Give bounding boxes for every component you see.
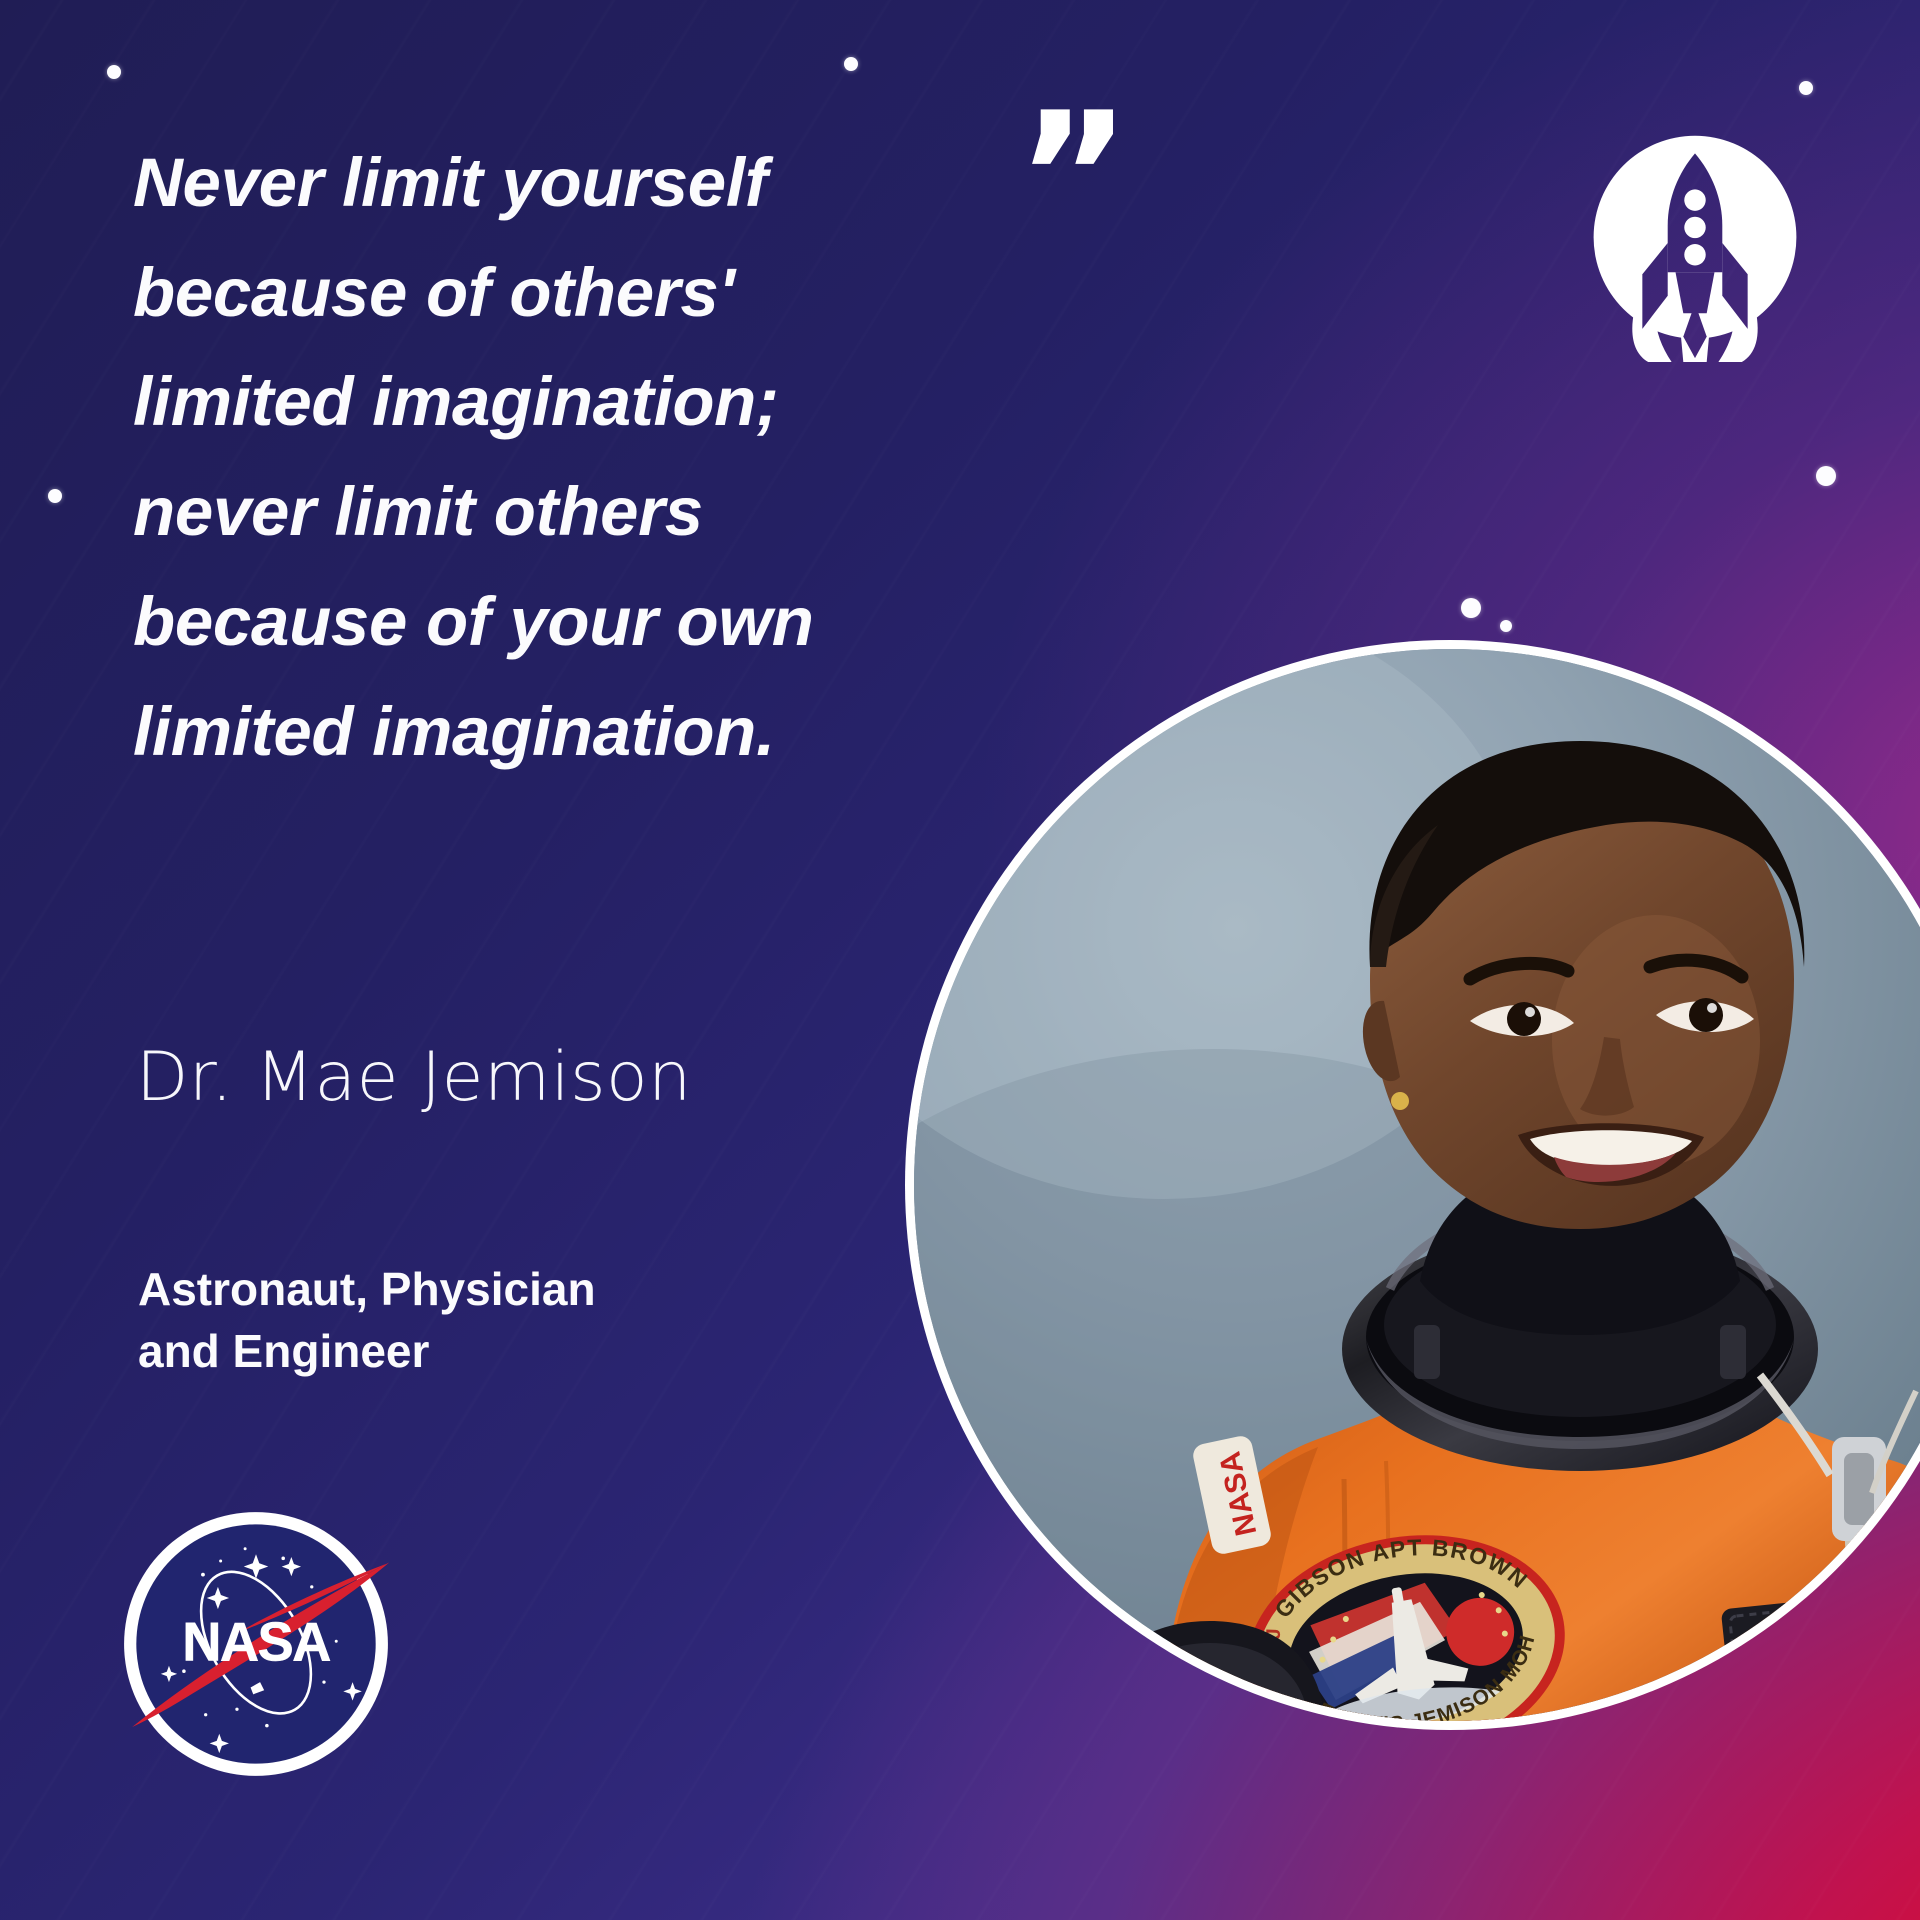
quote-block: Never limit yourself because of others' … [133, 128, 1013, 786]
star-dot [1816, 466, 1836, 486]
quote-poster: Never limit yourself because of others' … [0, 0, 1920, 1920]
svg-text:NASA: NASA [182, 1611, 330, 1672]
star-dot [844, 57, 858, 71]
rocket-icon [1578, 128, 1812, 362]
svg-text:NASA: NASA [1882, 1696, 1920, 1721]
star-dot [1500, 620, 1512, 632]
author-role: Astronaut, Physician and Engineer [138, 1258, 596, 1382]
star-dot [48, 489, 62, 503]
quote-text: Never limit yourself because of others' … [133, 128, 1013, 786]
star-dot [107, 65, 121, 79]
star-dot [1461, 598, 1481, 618]
astronaut-photo: NASA [914, 649, 1920, 1721]
star-dot [1799, 81, 1813, 95]
astronaut-portrait: NASA [905, 640, 1920, 1730]
author-name: Dr. Mae Jemison [136, 1038, 692, 1117]
nasa-logo: NASA [120, 1508, 392, 1780]
quotation-mark-icon: ” [1016, 110, 1125, 247]
